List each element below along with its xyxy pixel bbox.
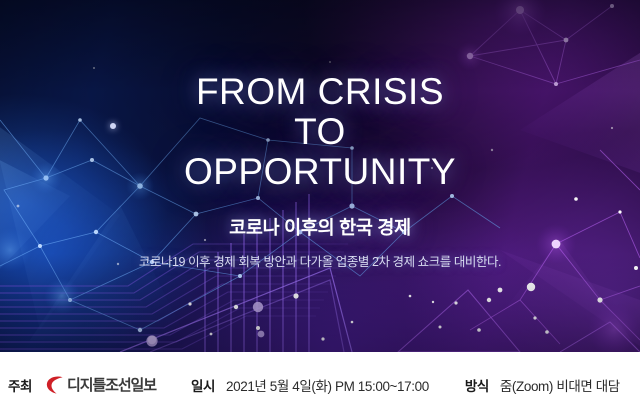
crescent-logo-mark [44, 375, 66, 395]
hero-banner: FROM CRISIS TO OPPORTUNITY 코로나 이후의 한국 경제… [0, 0, 640, 352]
chosun-logo: 디지틀조선일보 [44, 374, 156, 395]
footer-label-datetime: 일시 [191, 375, 215, 395]
footer-label-host: 주최 [8, 375, 32, 395]
footer-item-format: 방식 줌(Zoom) 비대면 대담 [465, 375, 620, 395]
footer-value-format: 줌(Zoom) 비대면 대담 [500, 375, 620, 395]
background-network-graphic [0, 0, 640, 352]
footer-label-format: 방식 [465, 375, 489, 395]
footer-item-host: 주최 디지틀조선일보 [8, 374, 156, 395]
footer-value-datetime: 2021년 5월 4일(화) PM 15:00~17:00 [226, 375, 429, 395]
chosun-logo-text: 디지틀조선일보 [67, 374, 156, 395]
footer-item-datetime: 일시 2021년 5월 4일(화) PM 15:00~17:00 [191, 375, 429, 395]
footer-info-bar: 주최 디지틀조선일보 일시 2021년 5월 4일(화) PM 15:00~17… [0, 352, 640, 417]
event-poster: FROM CRISIS TO OPPORTUNITY 코로나 이후의 한국 경제… [0, 0, 640, 417]
